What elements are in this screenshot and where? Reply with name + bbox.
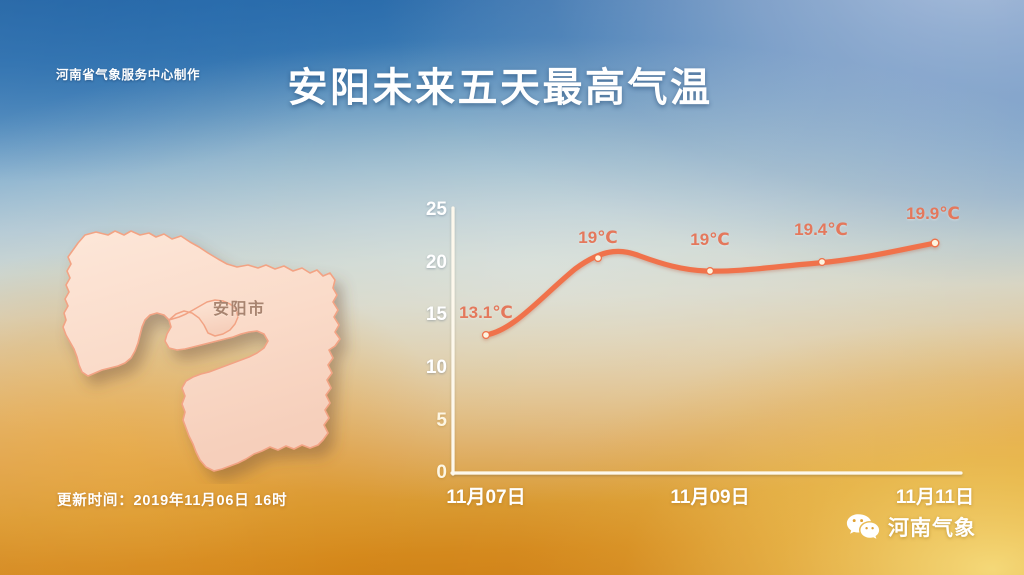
map-silhouette bbox=[63, 231, 340, 471]
temperature-series bbox=[483, 239, 939, 338]
y-tick-20: 20 bbox=[401, 252, 447, 274]
map-outline-path bbox=[63, 231, 340, 471]
x-tick-1109: 11月09日 bbox=[645, 482, 775, 509]
point-label-4: 19.4℃ bbox=[766, 220, 876, 240]
point-label-2: 19℃ bbox=[543, 228, 653, 248]
map-region-label: 安阳市 bbox=[213, 295, 266, 319]
point-label-5: 19.9℃ bbox=[878, 204, 988, 224]
y-tick-0: 0 bbox=[401, 462, 447, 484]
infographic-canvas: 河南省气象服务中心制作 安阳未来五天最高气温 安阳市 bbox=[0, 0, 1024, 575]
x-tick-1107: 11月07日 bbox=[421, 482, 551, 509]
data-point-marker bbox=[595, 255, 602, 262]
x-tick-1111: 11月11日 bbox=[870, 482, 1000, 509]
y-tick-10: 10 bbox=[401, 357, 447, 379]
page-title-text: 安阳未来五天最高气温 bbox=[288, 55, 713, 113]
data-point-marker bbox=[707, 268, 714, 275]
data-point-marker bbox=[819, 259, 826, 266]
point-label-3: 19℃ bbox=[655, 230, 765, 250]
point-label-1: 13.1℃ bbox=[431, 303, 541, 323]
data-point-marker bbox=[483, 332, 490, 339]
update-timestamp: 更新时间：2019年11月06日 16时 bbox=[57, 489, 287, 510]
anyang-region-map bbox=[52, 222, 372, 484]
temperature-line-chart: 25 20 15 10 5 0 11月07日 11月09日 11月11日 13.… bbox=[410, 190, 990, 500]
data-point-marker bbox=[931, 239, 939, 247]
y-tick-25: 25 bbox=[401, 199, 447, 221]
page-title: 安阳未来五天最高气温 bbox=[0, 55, 1024, 113]
y-tick-5: 5 bbox=[401, 410, 447, 432]
wechat-watermark: 河南气象 bbox=[846, 512, 976, 542]
wechat-icon bbox=[846, 513, 880, 541]
watermark-label: 河南气象 bbox=[888, 512, 976, 542]
temperature-line-path bbox=[486, 243, 935, 335]
